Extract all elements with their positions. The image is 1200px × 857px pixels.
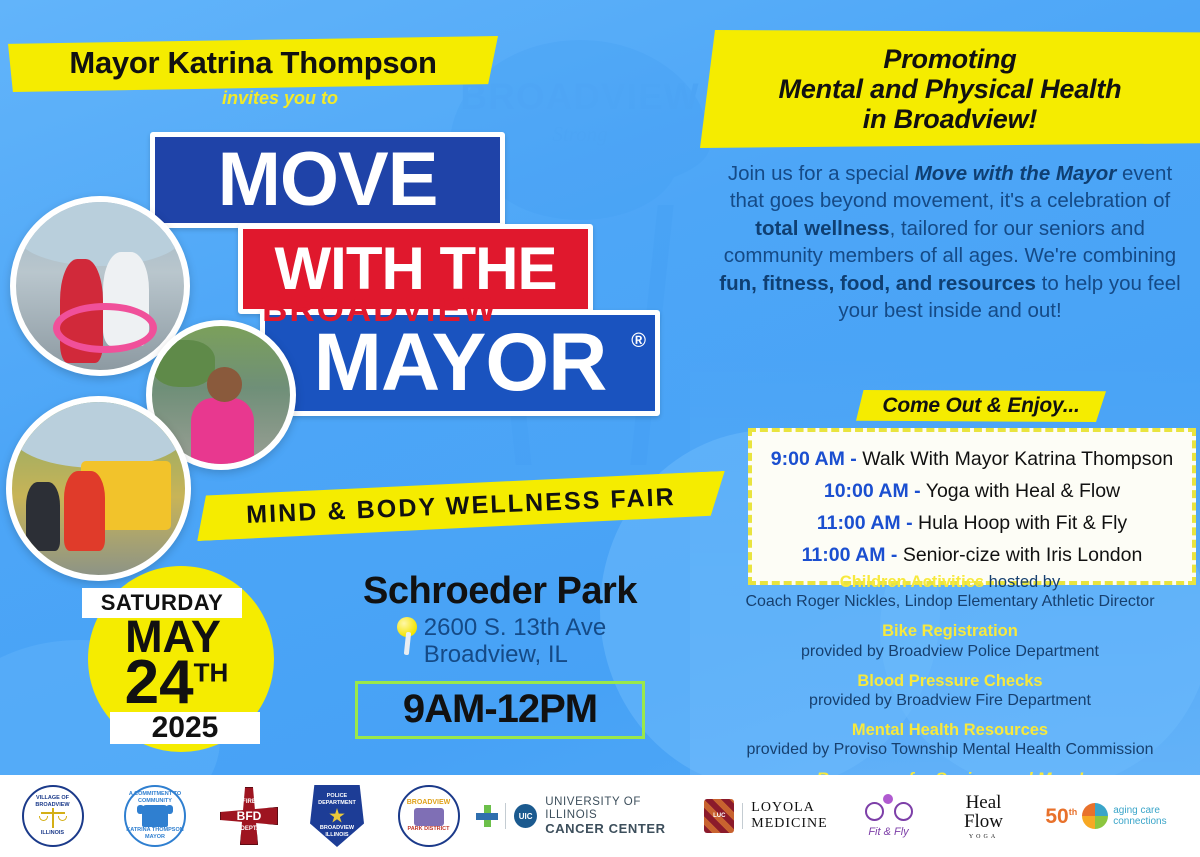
flyer-canvas: BROADVIEW Strong Mayor Katrina Thompson …	[0, 0, 1200, 857]
registered-trademark-icon: ®	[631, 331, 645, 351]
activity-title: Bike Registration	[700, 621, 1200, 641]
schedule-activity: Yoga with Heal & Flow	[926, 480, 1120, 502]
intro-bold-offerings: fun, fitness, food, and resources	[719, 272, 1036, 295]
intro-emphasis-event: Move with the Mayor	[915, 162, 1117, 185]
venue-address-line-1: 2600 S. 13th Ave	[424, 615, 606, 642]
promo-banner: Promoting Mental and Physical Health in …	[700, 30, 1200, 148]
logo-city-broadview: BROADVIEW	[215, 290, 545, 330]
date-day: 24TH	[94, 652, 259, 714]
logo-word-move: MOVE	[150, 132, 505, 228]
venue-block: Schroeder Park 2600 S. 13th Ave Broadvie…	[320, 570, 680, 739]
schedule-dash: -	[891, 544, 898, 566]
sponsor-uic-cancer-center: UIC UNIVERSITY OF ILLINOIS CANCER CENTER	[476, 780, 691, 852]
activity-title: Blood Pressure Checks	[700, 671, 1200, 691]
venue-address: 2600 S. 13th Ave Broadview, IL	[424, 615, 606, 669]
activity-provider: provided by Proviso Township Mental Heal…	[700, 740, 1200, 760]
intro-bold-wellness: total wellness	[755, 217, 889, 240]
schedule-card: 9:00 AM - Walk With Mayor Katrina Thomps…	[748, 428, 1196, 585]
photo-cyclists-school-bus	[6, 396, 191, 581]
map-pin-icon	[394, 617, 420, 655]
sponsor-broadview-fire-department: FIRE BFD DEPT.	[205, 780, 293, 852]
event-time-box: 9AM-12PM	[355, 681, 645, 739]
schedule-row: 11:00 AM - Senior-cize with Iris London	[802, 544, 1143, 567]
activities-list: Children Activities hosted by Coach Roge…	[700, 572, 1200, 789]
sponsor-katrina-thompson-mayor: A COMMITMENT TO COMMUNITY KATRINA THOMPS…	[105, 780, 205, 852]
sponsor-aging-care-connections: 50th aging care connections	[1031, 780, 1181, 852]
event-time: 9AM-12PM	[403, 687, 597, 732]
uic-badge-icon: UIC	[514, 804, 537, 828]
sponsor-broadview-police-department: POLICE DEPARTMENT BROADVIEW ILLINOIS	[293, 780, 381, 852]
schedule-row: 10:00 AM - Yoga with Heal & Flow	[824, 480, 1120, 503]
activity-item: Blood Pressure Checks provided by Broadv…	[700, 671, 1200, 711]
activity-provider: Coach Roger Nickles, Lindop Elementary A…	[700, 592, 1200, 612]
sponsor-village-of-broadview: VILLAGE OF BROADVIEW ILLINOIS	[0, 780, 105, 852]
schedule-activity: Hula Hoop with Fit & Fly	[918, 512, 1127, 534]
schedule-dash: -	[850, 448, 857, 470]
schedule-time: 9:00 AM	[771, 448, 845, 470]
cyclist-icon	[865, 794, 913, 824]
promo-line-1: Promoting	[883, 44, 1016, 74]
schedule-dash: -	[914, 480, 921, 502]
schedule-row: 11:00 AM - Hula Hoop with Fit & Fly	[817, 512, 1127, 535]
sponsor-logo-strip: VILLAGE OF BROADVIEW ILLINOIS A COMMITME…	[0, 775, 1200, 857]
activity-item: Children Activities hosted by Coach Roge…	[700, 572, 1200, 612]
date-year: 2025	[110, 712, 260, 744]
logo-mayor-text: MAYOR	[314, 322, 607, 404]
schedule-row: 9:00 AM - Walk With Mayor Katrina Thomps…	[771, 448, 1173, 471]
schedule-activity: Walk With Mayor Katrina Thompson	[862, 448, 1173, 470]
invites-text: invites you to	[180, 88, 380, 109]
venue-address-line-2: Broadview, IL	[424, 642, 606, 669]
sponsor-broadview-park-district: BROADVIEW PARK DISTRICT	[381, 780, 476, 852]
scales-of-justice-icon	[40, 808, 66, 830]
activity-item: Mental Health Resources provided by Prov…	[700, 720, 1200, 760]
venue-name: Schroeder Park	[320, 570, 680, 613]
schedule-time: 11:00 AM	[817, 512, 901, 534]
schedule-dash: -	[906, 512, 913, 534]
b-health-icon	[1194, 799, 1200, 833]
intro-paragraph: Join us for a special Move with the Mayo…	[700, 160, 1200, 325]
schedule-time: 10:00 AM	[824, 480, 909, 502]
sponsor-heal-and-flow: Heal Flow YOGA	[936, 780, 1031, 852]
activity-provider: provided by Broadview Police Department	[700, 642, 1200, 662]
promo-line-3: in Broadview!	[863, 104, 1037, 134]
activity-title: Mental Health Resources	[700, 720, 1200, 740]
activity-provider: provided by Broadview Fire Department	[700, 691, 1200, 711]
loyola-crest-icon: LUC	[704, 799, 734, 833]
sponsor-b-health: HEALTH	[1181, 780, 1200, 852]
activity-title: Children Activities hosted by	[700, 572, 1200, 592]
date-badge: SATURDAY MAY 24TH 2025	[88, 566, 274, 752]
maltese-cross-icon: FIRE BFD DEPT.	[220, 787, 278, 845]
shirt-icon	[142, 805, 168, 827]
aging-care-ring-icon	[1082, 803, 1108, 829]
fiftieth-anniversary-badge: 50th	[1045, 806, 1077, 827]
activity-item: Bike Registration provided by Broadview …	[700, 621, 1200, 661]
sponsor-loyola-medicine: LUC LOYOLA MEDICINE	[691, 780, 841, 852]
mayor-name-banner: Mayor Katrina Thompson	[8, 36, 498, 92]
schedule-activity: Senior-cize with Iris London	[903, 544, 1143, 566]
venue-address-row: 2600 S. 13th Ave Broadview, IL	[320, 615, 680, 669]
promo-line-2: Mental and Physical Health	[779, 74, 1122, 104]
come-out-enjoy-banner: Come Out & Enjoy...	[856, 390, 1106, 422]
medical-cross-icon	[476, 805, 497, 827]
sponsor-fit-and-fly: Fit & Fly	[841, 780, 936, 852]
police-shield-icon: POLICE DEPARTMENT BROADVIEW ILLINOIS	[310, 785, 364, 847]
schedule-time: 11:00 AM	[802, 544, 886, 566]
intro-part-1: Join us for a special	[728, 162, 915, 185]
